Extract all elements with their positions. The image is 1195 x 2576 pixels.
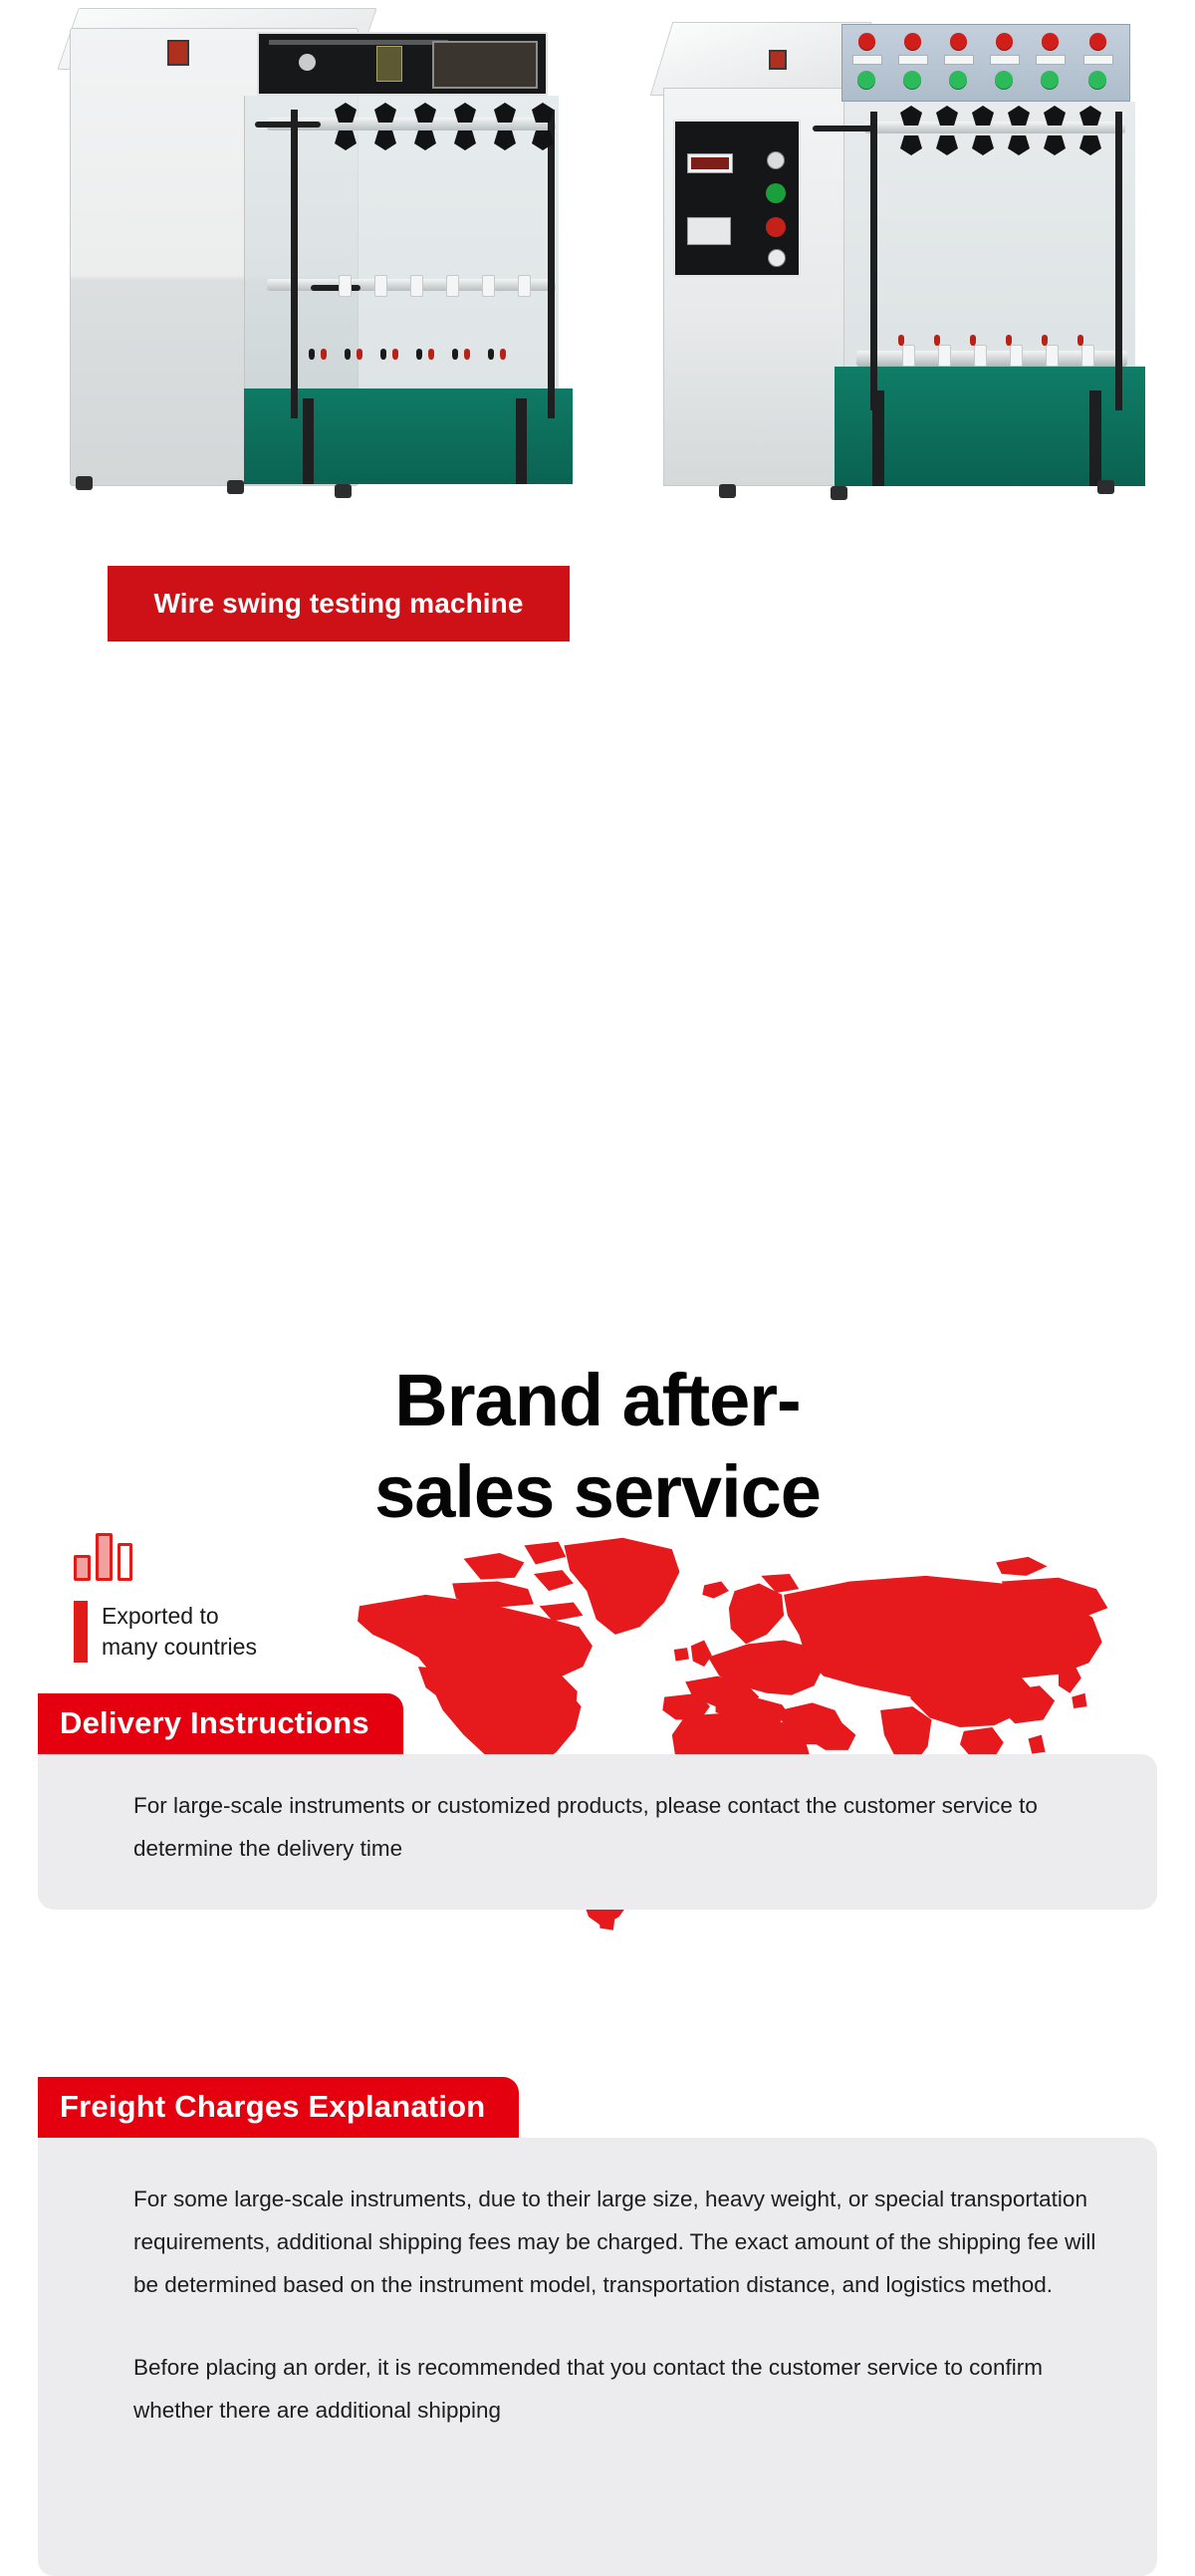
wire-swing-testing-machine-photo [40,0,597,558]
wire-bending-testing-machine-photo [617,0,1175,558]
freight-paragraph-2: Before placing an order, it is recommend… [133,2346,1101,2432]
page-title-line-2: sales service [0,1446,1195,1538]
product-card-wire-swing[interactable]: Wire swing testing machine [40,0,597,558]
section-body-delivery-instructions: For large-scale instruments or customize… [38,1754,1157,1910]
delivery-paragraph-1: For large-scale instruments or customize… [133,1784,1101,1870]
section-tab-freight-charges: Freight Charges Explanation [38,2077,519,2138]
page-title-line-1: Brand after- [0,1355,1195,1446]
product-label-wire-swing: Wire swing testing machine [108,566,570,642]
feature-accent-bar [74,1601,88,1663]
section-freight-charges-explanation: Freight Charges Explanation For some lar… [0,2077,1195,2576]
freight-paragraph-1: For some large-scale instruments, due to… [133,2178,1101,2306]
feature-label-exported: Exported to many countries [102,1601,257,1663]
feature-exported-to-many-countries: Exported to many countries [74,1529,257,1663]
section-tab-delivery-instructions: Delivery Instructions [38,1693,403,1754]
product-card-wire-bending[interactable]: Wire bending testing machine [617,0,1175,558]
product-gallery: Wire swing testing machine [0,0,1195,677]
section-body-freight-charges: For some large-scale instruments, due to… [38,2138,1157,2576]
section-delivery-instructions: Delivery Instructions For large-scale in… [0,1693,1195,1910]
page-title: Brand after- sales service [0,1355,1195,1538]
features-and-map-band: Exported to many countries Quality Assur… [0,677,1195,1295]
